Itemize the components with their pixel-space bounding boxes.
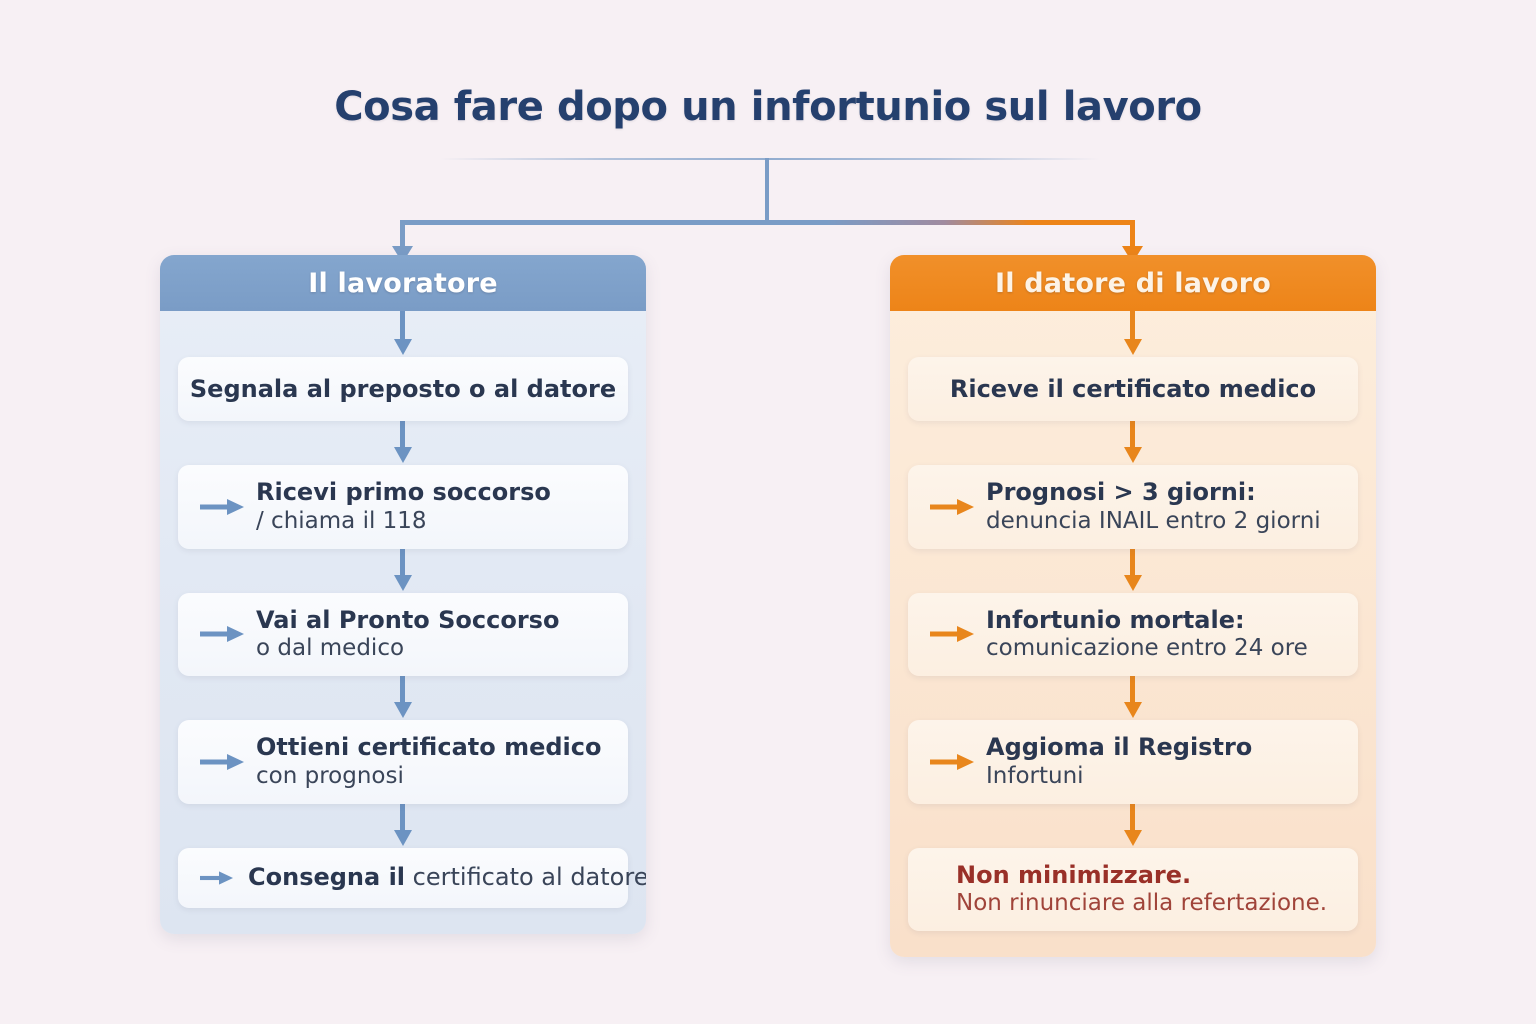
page-title: Cosa fare dopo un infortunio sul lavoro bbox=[0, 84, 1536, 130]
column-worker: Il lavoratore Segnala al preposto o al d… bbox=[160, 255, 646, 934]
card-employer-4-text: Aggioma il Registro Infortuni bbox=[986, 733, 1340, 791]
arrow-right-icon bbox=[930, 622, 976, 646]
card-employer-4-line2: Infortuni bbox=[986, 762, 1340, 791]
card-employer-1-text: Riceve il certificato medico bbox=[950, 375, 1316, 404]
card-employer-4[interactable]: Aggioma il Registro Infortuni bbox=[908, 720, 1358, 804]
card-employer-3-text: Infortunio mortale: comunicazione entro … bbox=[986, 606, 1340, 664]
card-worker-2-text: Ricevi primo soccorso / chiama il 118 bbox=[256, 478, 610, 536]
card-employer-5-line1: Non minimizzare. bbox=[956, 861, 1340, 890]
card-employer-1[interactable]: Riceve il certificato medico bbox=[908, 357, 1358, 421]
diagram-canvas: Cosa fare dopo un infortunio sul lavoro bbox=[0, 0, 1536, 1024]
connector-worker-4 bbox=[178, 804, 628, 848]
card-employer-2-line2: denuncia INAIL entro 2 giorni bbox=[986, 507, 1340, 536]
card-worker-5-line1: Consegna il certificato al datore bbox=[248, 863, 646, 892]
connector-employer-0 bbox=[908, 311, 1358, 357]
card-worker-2-line2: / chiama il 118 bbox=[256, 507, 610, 536]
card-employer-5-line2: Non rinunciare alla refertazione. bbox=[956, 889, 1340, 918]
card-worker-3-text: Vai al Pronto Soccorso o dal medico bbox=[256, 606, 610, 664]
connector-worker-1 bbox=[178, 421, 628, 465]
card-employer-2[interactable]: Prognosi > 3 giorni: denuncia INAIL entr… bbox=[908, 465, 1358, 549]
card-worker-2[interactable]: Ricevi primo soccorso / chiama il 118 bbox=[178, 465, 628, 549]
card-worker-3-line2: o dal medico bbox=[256, 634, 610, 663]
card-employer-3-line1: Infortunio mortale: bbox=[986, 606, 1340, 635]
card-worker-3[interactable]: Vai al Pronto Soccorso o dal medico bbox=[178, 593, 628, 677]
card-employer-2-line1: Prognosi > 3 giorni: bbox=[986, 478, 1340, 507]
card-worker-4-line2: con prognosi bbox=[256, 762, 610, 791]
connector-tree bbox=[0, 150, 1536, 270]
card-employer-3[interactable]: Infortunio mortale: comunicazione entro … bbox=[908, 593, 1358, 677]
card-worker-5-regular: certificato al datore bbox=[405, 863, 646, 891]
card-employer-1-line1: Riceve il certificato medico bbox=[950, 375, 1316, 404]
card-employer-5-warning[interactable]: Non minimizzare. Non rinunciare alla ref… bbox=[908, 848, 1358, 932]
connector-employer-1 bbox=[908, 421, 1358, 465]
arrow-right-icon bbox=[200, 750, 246, 774]
column-employer-header: Il datore di lavoro bbox=[890, 255, 1376, 311]
card-worker-5[interactable]: Consegna il certificato al datore bbox=[178, 848, 628, 908]
column-employer: Il datore di lavoro Riceve il certificat… bbox=[890, 255, 1376, 957]
column-worker-body: Segnala al preposto o al datore Ricevi p… bbox=[160, 311, 646, 934]
arrow-right-icon bbox=[930, 495, 976, 519]
card-employer-4-line1: Aggioma il Registro bbox=[986, 733, 1340, 762]
card-worker-1-line1: Segnala al preposto o al datore bbox=[190, 375, 616, 404]
connector-employer-3 bbox=[908, 676, 1358, 720]
arrow-right-icon bbox=[930, 750, 976, 774]
connector-worker-3 bbox=[178, 676, 628, 720]
connector-employer-4 bbox=[908, 804, 1358, 848]
arrow-right-icon bbox=[200, 866, 238, 890]
card-worker-3-line1: Vai al Pronto Soccorso bbox=[256, 606, 610, 635]
connector-worker-2 bbox=[178, 549, 628, 593]
column-worker-header: Il lavoratore bbox=[160, 255, 646, 311]
card-worker-2-line1: Ricevi primo soccorso bbox=[256, 478, 610, 507]
card-worker-4-line1: Ottieni certificato medico bbox=[256, 733, 610, 762]
card-worker-5-text: Consegna il certificato al datore bbox=[248, 863, 646, 892]
connector-employer-2 bbox=[908, 549, 1358, 593]
connector-worker-0 bbox=[178, 311, 628, 357]
arrow-right-icon bbox=[200, 622, 246, 646]
arrow-right-icon bbox=[200, 495, 246, 519]
card-worker-5-bold: Consegna il bbox=[248, 863, 405, 891]
card-worker-1[interactable]: Segnala al preposto o al datore bbox=[178, 357, 628, 421]
column-employer-body: Riceve il certificato medico Prognosi > … bbox=[890, 311, 1376, 957]
card-employer-3-line2: comunicazione entro 24 ore bbox=[986, 634, 1340, 663]
card-worker-4-text: Ottieni certificato medico con prognosi bbox=[256, 733, 610, 791]
card-worker-4[interactable]: Ottieni certificato medico con prognosi bbox=[178, 720, 628, 804]
card-employer-5-text: Non minimizzare. Non rinunciare alla ref… bbox=[956, 861, 1340, 919]
card-worker-1-text: Segnala al preposto o al datore bbox=[190, 375, 616, 404]
card-employer-2-text: Prognosi > 3 giorni: denuncia INAIL entr… bbox=[986, 478, 1340, 536]
